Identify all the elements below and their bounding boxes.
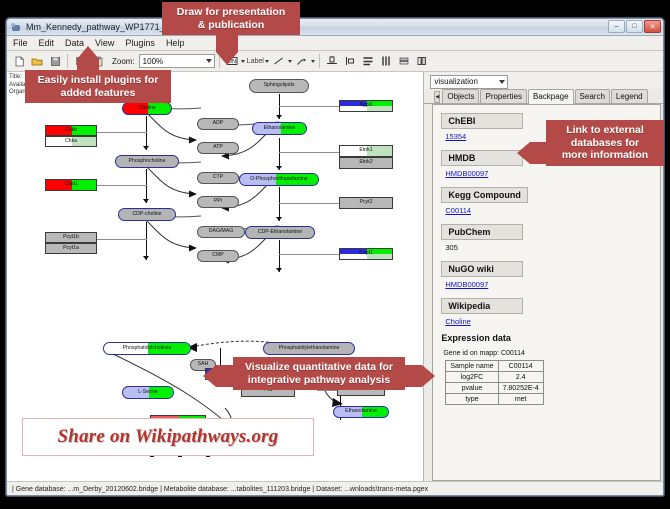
node-label: CDP-choline: [132, 212, 161, 217]
label-tool-label: Label: [247, 58, 264, 65]
canvas-meta-title: Title:: [9, 74, 26, 82]
row-value: met: [498, 394, 543, 405]
callout-link-line1: Link to external: [554, 124, 656, 137]
node-atp[interactable]: ATP: [197, 142, 239, 154]
node-label: Ethanolamine: [345, 409, 377, 414]
share-banner-text: Share on Wikipathways.org: [58, 426, 279, 448]
node-label: Phosphatidylcholines: [123, 346, 172, 351]
visualization-combobox[interactable]: visualization: [430, 75, 508, 89]
interaction-tool-icon[interactable]: [294, 53, 310, 69]
node-etnk1[interactable]: Etnk1: [339, 145, 393, 157]
visualization-row: visualization: [424, 72, 663, 89]
pathvisio-app-icon: [11, 22, 22, 33]
statusbar-text: | Gene database: ...m_Derby_20120602.bri…: [12, 486, 428, 493]
node-pcyt1a[interactable]: Pcyt1a: [45, 243, 97, 254]
node-cept1[interactable]: Cept1: [339, 248, 393, 260]
align-center-icon[interactable]: [324, 53, 340, 69]
visualization-value: visualization: [434, 77, 478, 86]
callout-visualize: Visualize quantitative data for integrat…: [233, 357, 405, 390]
backpage-section-header-wikipedia: Wikipedia: [441, 298, 523, 314]
node-label: PPi: [214, 199, 222, 204]
node-phosphocholine[interactable]: Phosphocholine: [115, 155, 179, 168]
table-row: pvalue 7.80252E-4: [446, 383, 543, 394]
menu-file[interactable]: File: [12, 38, 29, 48]
node-label: Pcyt1a: [63, 246, 79, 251]
node-pcyt1b[interactable]: Pcyt1b: [45, 232, 97, 243]
node-label: Phosphocholine: [129, 159, 166, 164]
backpage-link-wikipedia[interactable]: Choline: [445, 317, 652, 326]
maximize-button[interactable]: □: [626, 20, 643, 33]
node-label: Chpt1: [64, 182, 78, 187]
interaction-tool[interactable]: [294, 53, 315, 69]
close-button[interactable]: ✕: [644, 20, 661, 33]
callout-draw-line1: Draw for presentation: [170, 6, 292, 19]
backpage-section-header-kegg: Kegg Compound: [441, 187, 528, 203]
zoom-label: Zoom:: [112, 57, 135, 66]
node-label: Etnk1: [359, 148, 372, 153]
node-label: CMP: [212, 253, 224, 258]
distribute-horizontal-icon[interactable]: [378, 53, 394, 69]
row-key: Sample name: [446, 361, 498, 372]
node-label: Ethanolamine: [264, 126, 296, 131]
tab-backpage[interactable]: Backpage: [528, 89, 574, 104]
chevron-down-icon[interactable]: [241, 60, 245, 63]
edge-chpt1-catalysis: [97, 185, 147, 186]
backpage-section-header-hmdb: HMDB: [441, 150, 523, 166]
distribute-vertical-icon[interactable]: [360, 53, 376, 69]
row-value: 2.4: [498, 372, 543, 383]
callout-visualize-arrow-left: [203, 365, 216, 387]
node-chkb[interactable]: Chkb: [45, 125, 97, 136]
tab-legend[interactable]: Legend: [611, 89, 648, 103]
node-phosphatidylethanolamine[interactable]: Phosphatidylethanolamine: [263, 342, 355, 355]
node-adp[interactable]: ADP: [197, 118, 239, 130]
backpage-value-pubchem: 305: [445, 243, 652, 252]
chevron-down-icon[interactable]: [265, 60, 269, 63]
minimize-button[interactable]: –: [608, 20, 625, 33]
edge-pcyt2-catalysis: [279, 203, 339, 204]
callout-visualize-stem-right: [403, 365, 422, 387]
tab-properties[interactable]: Properties: [480, 89, 526, 103]
label-tool[interactable]: Label: [247, 58, 269, 65]
node-choline-top[interactable]: Choline: [122, 102, 172, 115]
node-pcyt2[interactable]: Pcyt2: [339, 197, 393, 209]
gene-id-on-mapp: Gene id on mapp: C00114: [443, 350, 652, 357]
open-folder-icon[interactable]: [29, 53, 45, 69]
node-label: CDP-Ethanolamine: [258, 230, 302, 235]
window-titlebar: Mm_Kennedy_pathway_WP1771_45176.gpml – □…: [7, 19, 663, 36]
node-label: Pcyt2: [360, 200, 373, 205]
node-label: Chka: [65, 139, 77, 144]
table-row: Sample name C00114: [446, 361, 543, 372]
backpage-link-kegg[interactable]: C00114: [445, 206, 652, 215]
save-disk-icon[interactable]: [47, 53, 63, 69]
row-value: 7.80252E-4: [498, 383, 543, 394]
node-label: Chkb: [65, 128, 77, 133]
callout-plugins: Easily install plugins for added feature…: [25, 70, 171, 103]
node-label: Pcyt1b: [63, 235, 79, 240]
node-label: DAG/MAG: [209, 229, 234, 234]
edge-sgpl1-catalysis: [279, 106, 339, 107]
node-label: O-Phosphoethanolamine: [250, 177, 307, 182]
node-chpt1[interactable]: Chpt1: [45, 179, 97, 191]
edge-chk-catalysis: [97, 132, 147, 133]
backpage-section-header-nugo: NuGO wiki: [441, 261, 523, 277]
node-label: Sphingolipids: [264, 83, 295, 88]
callout-link-arrow: [517, 142, 530, 164]
row-key: log2FC: [446, 372, 498, 383]
node-label: Phosphatidylethanolamine: [279, 346, 340, 351]
canvas-meta-available: Availa: [9, 82, 26, 90]
callout-plugins-line2: added features: [33, 87, 163, 100]
callout-draw-line2: & publication: [170, 19, 292, 32]
node-ctp[interactable]: CTP: [197, 172, 239, 184]
statusbar: | Gene database: ...m_Derby_20120602.bri…: [7, 481, 663, 496]
toolbar: Zoom: 100% DN Label: [7, 51, 663, 72]
node-label: ATP: [213, 145, 223, 150]
chevron-down-icon[interactable]: [311, 60, 315, 63]
edge-pcyt1-catalysis: [97, 239, 147, 240]
backpage-section-header-pubchem: PubChem: [441, 224, 523, 240]
line-tool[interactable]: [271, 53, 292, 69]
node-o-phosphoethanolamine[interactable]: O-Phosphoethanolamine: [239, 173, 319, 186]
node-sphingolipids[interactable]: Sphingolipids: [249, 79, 309, 93]
node-etnk2[interactable]: Etnk2: [339, 157, 393, 169]
edge-cept1-catalysis: [279, 254, 339, 255]
node-cmp[interactable]: CMP: [197, 250, 239, 262]
callout-external-links: Link to external databases for more info…: [546, 120, 664, 166]
toolbar-separator-3: [319, 54, 320, 68]
stack-icon[interactable]: [396, 53, 412, 69]
node-label: Etnk2: [359, 160, 372, 165]
node-sgpl1[interactable]: Sgpl1: [339, 100, 393, 112]
callout-draw: Draw for presentation & publication: [162, 2, 300, 35]
node-label: L-Serine: [138, 390, 158, 395]
group-icon[interactable]: [414, 53, 430, 69]
chevron-down-icon: [499, 80, 505, 84]
expression-data-title: Expression data: [441, 333, 652, 343]
menu-edit[interactable]: Edit: [38, 38, 56, 48]
menu-help[interactable]: Help: [165, 38, 186, 48]
chevron-down-icon: [206, 59, 212, 63]
callout-plugins-arrow: [77, 46, 99, 59]
node-label: Choline: [138, 106, 156, 111]
node-label: CTP: [213, 175, 223, 180]
callout-visualize-line1: Visualize quantitative data for: [241, 361, 397, 374]
row-value: C00114: [498, 361, 543, 372]
node-phosphatidylcholines[interactable]: Phosphatidylcholines: [103, 342, 191, 355]
table-row: type met: [446, 394, 543, 405]
screenshot-root: Mm_Kennedy_pathway_WP1771_45176.gpml – □…: [0, 0, 670, 509]
node-cdp-choline[interactable]: CDP-choline: [118, 208, 176, 221]
share-banner: Share on Wikipathways.org: [22, 418, 314, 456]
chevron-down-icon[interactable]: [288, 60, 292, 63]
node-label: ADP: [213, 121, 224, 126]
callout-link-line3: more information: [554, 149, 656, 162]
align-left-icon[interactable]: [342, 53, 358, 69]
node-ethanolamine-top[interactable]: Ethanolamine: [252, 122, 307, 135]
row-key: pvalue: [446, 383, 498, 394]
callout-plugins-line1: Easily install plugins for: [33, 74, 163, 87]
menubar: File Edit Data View Plugins Help: [7, 36, 663, 51]
tab-objects[interactable]: Objects: [442, 89, 479, 103]
expression-data-table: Sample name C00114 log2FC 2.4 pvalue 7.8…: [445, 360, 543, 405]
line-tool-icon[interactable]: [271, 53, 287, 69]
edge-etnk-catalysis: [279, 152, 339, 153]
callout-draw-stem: [216, 34, 238, 52]
tab-search[interactable]: Search: [575, 89, 610, 103]
node-label: Cept1: [359, 251, 373, 256]
toolbar-separator-1: [67, 54, 68, 68]
table-row: log2FC 2.4: [446, 372, 543, 383]
side-panel-tabs: ◀ Objects Properties Backpage Search Leg…: [424, 89, 663, 104]
node-ethanolamine-bottom[interactable]: Ethanolamine: [333, 406, 389, 418]
backpage-link-hmdb[interactable]: HMDB00097: [445, 169, 652, 178]
row-key: type: [446, 394, 498, 405]
node-label: Sgpl1: [359, 103, 372, 108]
node-ppi[interactable]: PPi: [197, 196, 239, 208]
node-dag-mag[interactable]: DAG/MAG: [197, 226, 245, 238]
canvas-metadata: Title: Availa Organ: [9, 74, 26, 97]
callout-visualize-arrow-right: [422, 365, 435, 387]
tab-scroll-left-icon[interactable]: ◀: [434, 91, 440, 103]
zoom-value: 100%: [143, 57, 163, 66]
window-buttons: – □ ✕: [608, 20, 661, 33]
callout-link-line2: databases for: [554, 137, 656, 150]
callout-visualize-line2: integrative pathway analysis: [241, 374, 397, 387]
backpage-section-header-chebi: ChEBI: [441, 113, 523, 129]
node-l-serine-left[interactable]: L-Serine: [122, 386, 174, 399]
new-document-icon[interactable]: [11, 53, 27, 69]
canvas-meta-organism: Organ: [9, 89, 26, 97]
menu-plugins[interactable]: Plugins: [124, 38, 156, 48]
node-chka[interactable]: Chka: [45, 136, 97, 147]
backpage-link-nugo[interactable]: HMDB00097: [445, 280, 652, 289]
zoom-combobox[interactable]: 100%: [139, 54, 215, 68]
node-cdp-ethanolamine[interactable]: CDP-Ethanolamine: [245, 226, 315, 239]
callout-draw-arrow: [216, 52, 238, 65]
